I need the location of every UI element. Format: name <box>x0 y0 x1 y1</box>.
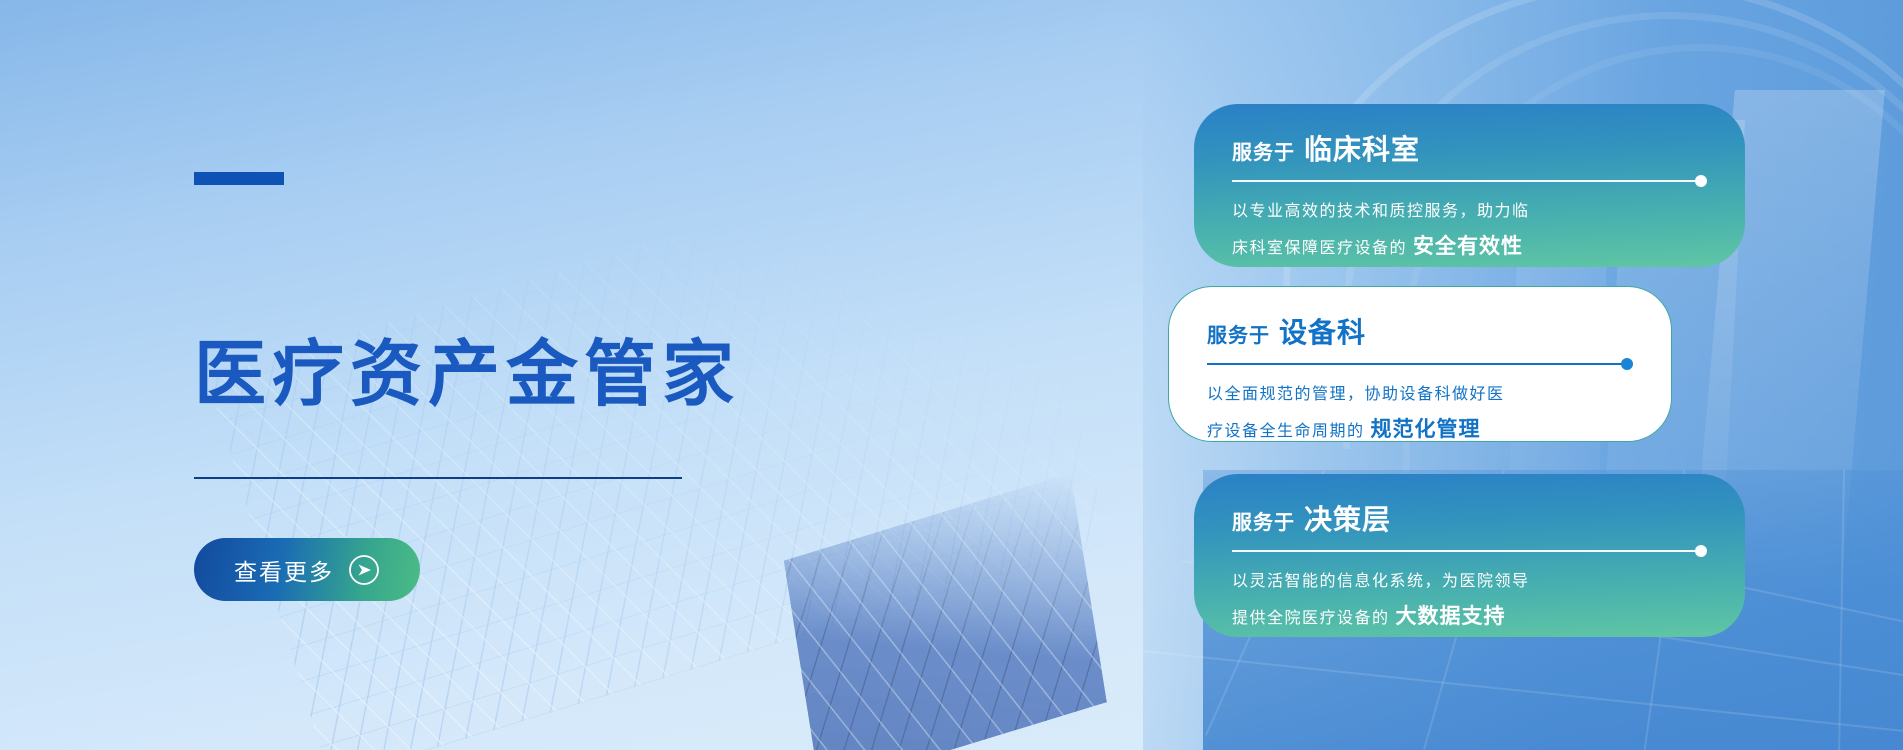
card-body: 以灵活智能的信息化系统，为医院领导 提供全院医疗设备的大数据支持 <box>1232 566 1707 638</box>
card-body-line-2-text: 提供全院医疗设备的 <box>1232 610 1390 627</box>
card-heading: 服务于临床科室 <box>1232 132 1707 167</box>
card-rule <box>1232 550 1707 552</box>
card-lead: 服务于 <box>1207 325 1270 347</box>
service-card-clinical[interactable]: 服务于临床科室 以专业高效的技术和质控服务，助力临 床科室保障医疗设备的安全有效… <box>1194 104 1745 267</box>
card-highlight: 大数据支持 <box>1396 605 1506 628</box>
card-rule <box>1232 180 1707 182</box>
card-lead: 服务于 <box>1232 512 1295 534</box>
hero-banner: 医疗资产金管家 查看更多 服务于临床科室 以专业高效的技术和质控服务，助力临 床 <box>0 0 1903 750</box>
rule-line <box>1232 180 1697 182</box>
card-body-line-1: 以全面规范的管理，协助设备科做好医 <box>1207 379 1633 410</box>
card-body-line-1: 以专业高效的技术和质控服务，助力临 <box>1232 196 1707 227</box>
card-highlight: 规范化管理 <box>1371 418 1481 441</box>
card-lead: 服务于 <box>1232 142 1295 164</box>
card-body: 以专业高效的技术和质控服务，助力临 床科室保障医疗设备的安全有效性 <box>1232 196 1707 268</box>
rule-line <box>1207 363 1623 365</box>
card-body-line-1: 以灵活智能的信息化系统，为医院领导 <box>1232 566 1707 597</box>
card-body-line-2: 床科室保障医疗设备的安全有效性 <box>1232 227 1707 268</box>
rule-line <box>1232 550 1697 552</box>
card-heading: 服务于设备科 <box>1207 315 1633 350</box>
card-rule <box>1207 363 1633 365</box>
card-department: 决策层 <box>1304 504 1391 535</box>
card-body-line-2: 提供全院医疗设备的大数据支持 <box>1232 597 1707 638</box>
card-department: 设备科 <box>1279 317 1366 348</box>
service-card-decision[interactable]: 服务于决策层 以灵活智能的信息化系统，为医院领导 提供全院医疗设备的大数据支持 <box>1194 474 1745 637</box>
card-department: 临床科室 <box>1304 134 1420 165</box>
rule-dot-icon <box>1621 358 1633 370</box>
service-cards-list: 服务于临床科室 以专业高效的技术和质控服务，助力临 床科室保障医疗设备的安全有效… <box>0 0 1903 750</box>
card-body-line-2-text: 疗设备全生命周期的 <box>1207 423 1365 440</box>
rule-dot-icon <box>1695 175 1707 187</box>
service-card-equipment[interactable]: 服务于设备科 以全面规范的管理，协助设备科做好医 疗设备全生命周期的规范化管理 <box>1168 286 1672 442</box>
rule-dot-icon <box>1695 545 1707 557</box>
card-heading: 服务于决策层 <box>1232 502 1707 537</box>
card-highlight: 安全有效性 <box>1413 235 1523 258</box>
card-body-line-2: 疗设备全生命周期的规范化管理 <box>1207 410 1633 451</box>
card-body-line-2-text: 床科室保障医疗设备的 <box>1232 240 1407 257</box>
card-body: 以全面规范的管理，协助设备科做好医 疗设备全生命周期的规范化管理 <box>1207 379 1633 451</box>
